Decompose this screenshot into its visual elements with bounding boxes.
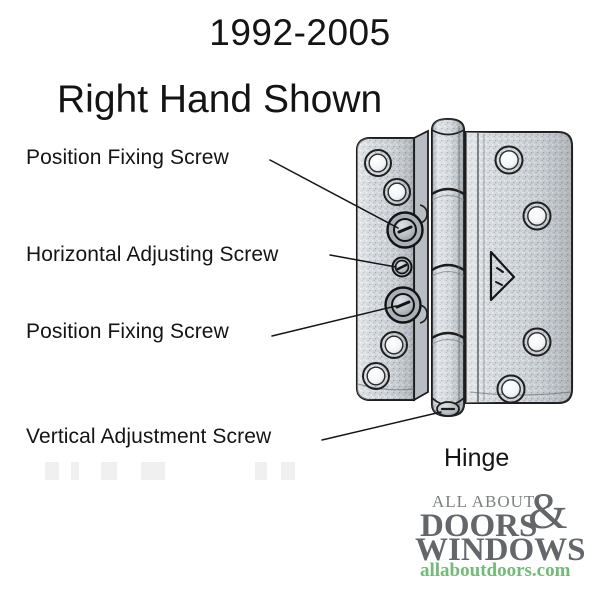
mounting-hole [381,332,407,358]
vertical-adjustment-screw [437,402,459,416]
center-knuckle-barrel [429,119,467,416]
left-leaf [357,131,428,400]
mounting-hole [365,150,391,176]
mounting-hole [496,147,523,174]
watermark-url: allaboutdoors.com [420,560,570,582]
watermark-all-about-doors-and-windows: ALL ABOUT & DOORS WINDOWS allaboutdoors.… [410,492,590,578]
mounting-hole [498,376,525,403]
mounting-hole [524,203,551,230]
callout-label-vertical-adjustment-screw: Vertical Adjustment Screw [26,425,271,449]
scan-artifact-band [45,462,375,480]
position-fixing-screw-top [388,213,423,248]
diagram-page: 1992-2005 Right Hand Shown Position Fixi… [0,0,600,600]
callout-label-position-fixing-screw-bottom: Position Fixing Screw [26,320,229,344]
right-leaf [466,132,572,403]
mounting-hole [524,329,551,356]
page-title-hand: Right Hand Shown [57,78,382,122]
callout-label-position-fixing-screw-top: Position Fixing Screw [26,146,229,170]
mounting-hole [384,179,410,205]
callout-label-horizontal-adjusting-screw: Horizontal Adjusting Screw [26,243,278,267]
part-name-label: Hinge [444,444,509,473]
position-fixing-screw-bottom [386,288,421,323]
page-title-year-range: 1992-2005 [0,12,600,54]
leader-vertical-adjustment [322,412,441,440]
mounting-hole [363,363,389,389]
